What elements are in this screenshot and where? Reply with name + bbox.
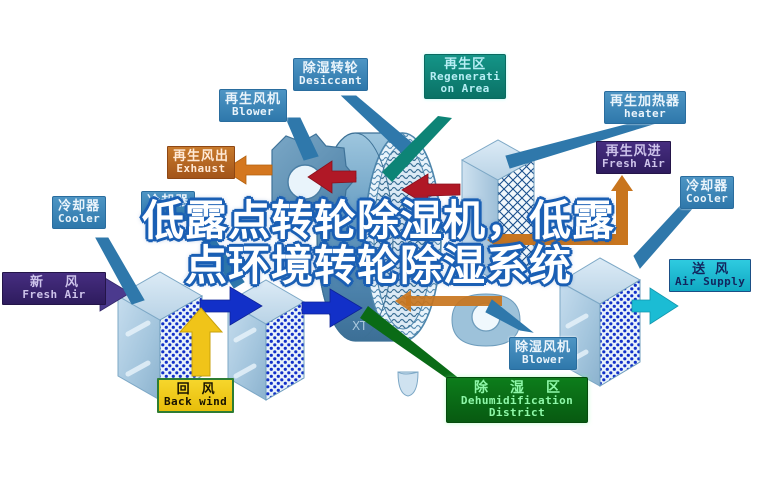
label-dehumidification-district-en2: District — [452, 407, 582, 419]
label-regeneration-blower-en: Blower — [225, 106, 281, 118]
label-back-wind-en: Back wind — [164, 396, 227, 408]
label-regeneration-area[interactable]: 再生区 Regenerati on Area — [424, 54, 506, 99]
label-dehumidification-blower-en: Blower — [515, 354, 571, 366]
label-regeneration-heater-cn: 再生加热器 — [610, 94, 680, 108]
label-cooler-right[interactable]: 冷却器 Cooler — [680, 176, 734, 209]
label-desiccant-rotor-en: Desiccant — [299, 75, 362, 87]
label-regeneration-heater[interactable]: 再生加热器 heater — [604, 91, 686, 124]
label-desiccant-rotor-cn: 除湿转轮 — [299, 61, 362, 75]
label-back-wind-cn: 回风 — [164, 382, 227, 396]
label-cooler-left-inner-cn: 冷却器 — [147, 194, 189, 208]
label-regeneration-blower[interactable]: 再生风机 Blower — [219, 89, 287, 122]
label-exhaust-cn: 再生风出 — [173, 149, 229, 163]
label-regeneration-fresh-air-in-cn: 再生风进 — [602, 144, 665, 158]
label-dehumidification-blower-cn: 除湿风机 — [515, 340, 571, 354]
label-air-supply-en: Air Supply — [675, 276, 745, 288]
label-regeneration-blower-cn: 再生风机 — [225, 92, 281, 106]
label-desiccant-rotor[interactable]: 除湿转轮 Desiccant — [293, 58, 368, 91]
label-cooler-left-outer-en: Cooler — [58, 213, 100, 225]
label-cooler-left-outer[interactable]: 冷却器 Cooler — [52, 196, 106, 229]
diagram-canvas: XT — [0, 0, 757, 488]
label-air-supply-cn: 送风 — [675, 262, 745, 276]
label-regeneration-fresh-air-in[interactable]: 再生风进 Fresh Air — [596, 141, 671, 174]
label-cooler-left-outer-cn: 冷却器 — [58, 199, 100, 213]
label-dehumidification-district-cn: 除湿区 — [452, 380, 582, 395]
label-back-wind[interactable]: 回风 Back wind — [157, 378, 234, 413]
label-fresh-air-in-en: Fresh Air — [8, 289, 100, 301]
label-fresh-air-in-cn: 新风 — [8, 275, 100, 289]
label-dehumidification-blower[interactable]: 除湿风机 Blower — [509, 337, 577, 370]
label-regeneration-fresh-air-in-en: Fresh Air — [602, 158, 665, 170]
label-exhaust[interactable]: 再生风出 Exhaust — [167, 146, 235, 179]
label-dehumidification-district[interactable]: 除湿区 Dehumidification District — [446, 377, 588, 423]
label-cooler-right-en: Cooler — [686, 193, 728, 205]
label-regeneration-area-en2: on Area — [430, 83, 500, 95]
label-regeneration-area-cn: 再生区 — [430, 57, 500, 71]
dehumidifier-schematic-illustration: XT — [0, 0, 757, 488]
label-fresh-air-in[interactable]: 新风 Fresh Air — [2, 272, 106, 305]
label-regeneration-heater-en: heater — [610, 108, 680, 120]
label-cooler-right-cn: 冷却器 — [686, 179, 728, 193]
label-air-supply[interactable]: 送风 Air Supply — [669, 259, 751, 292]
label-exhaust-en: Exhaust — [173, 163, 229, 175]
label-cooler-left-inner[interactable]: 冷却器 — [141, 191, 195, 221]
